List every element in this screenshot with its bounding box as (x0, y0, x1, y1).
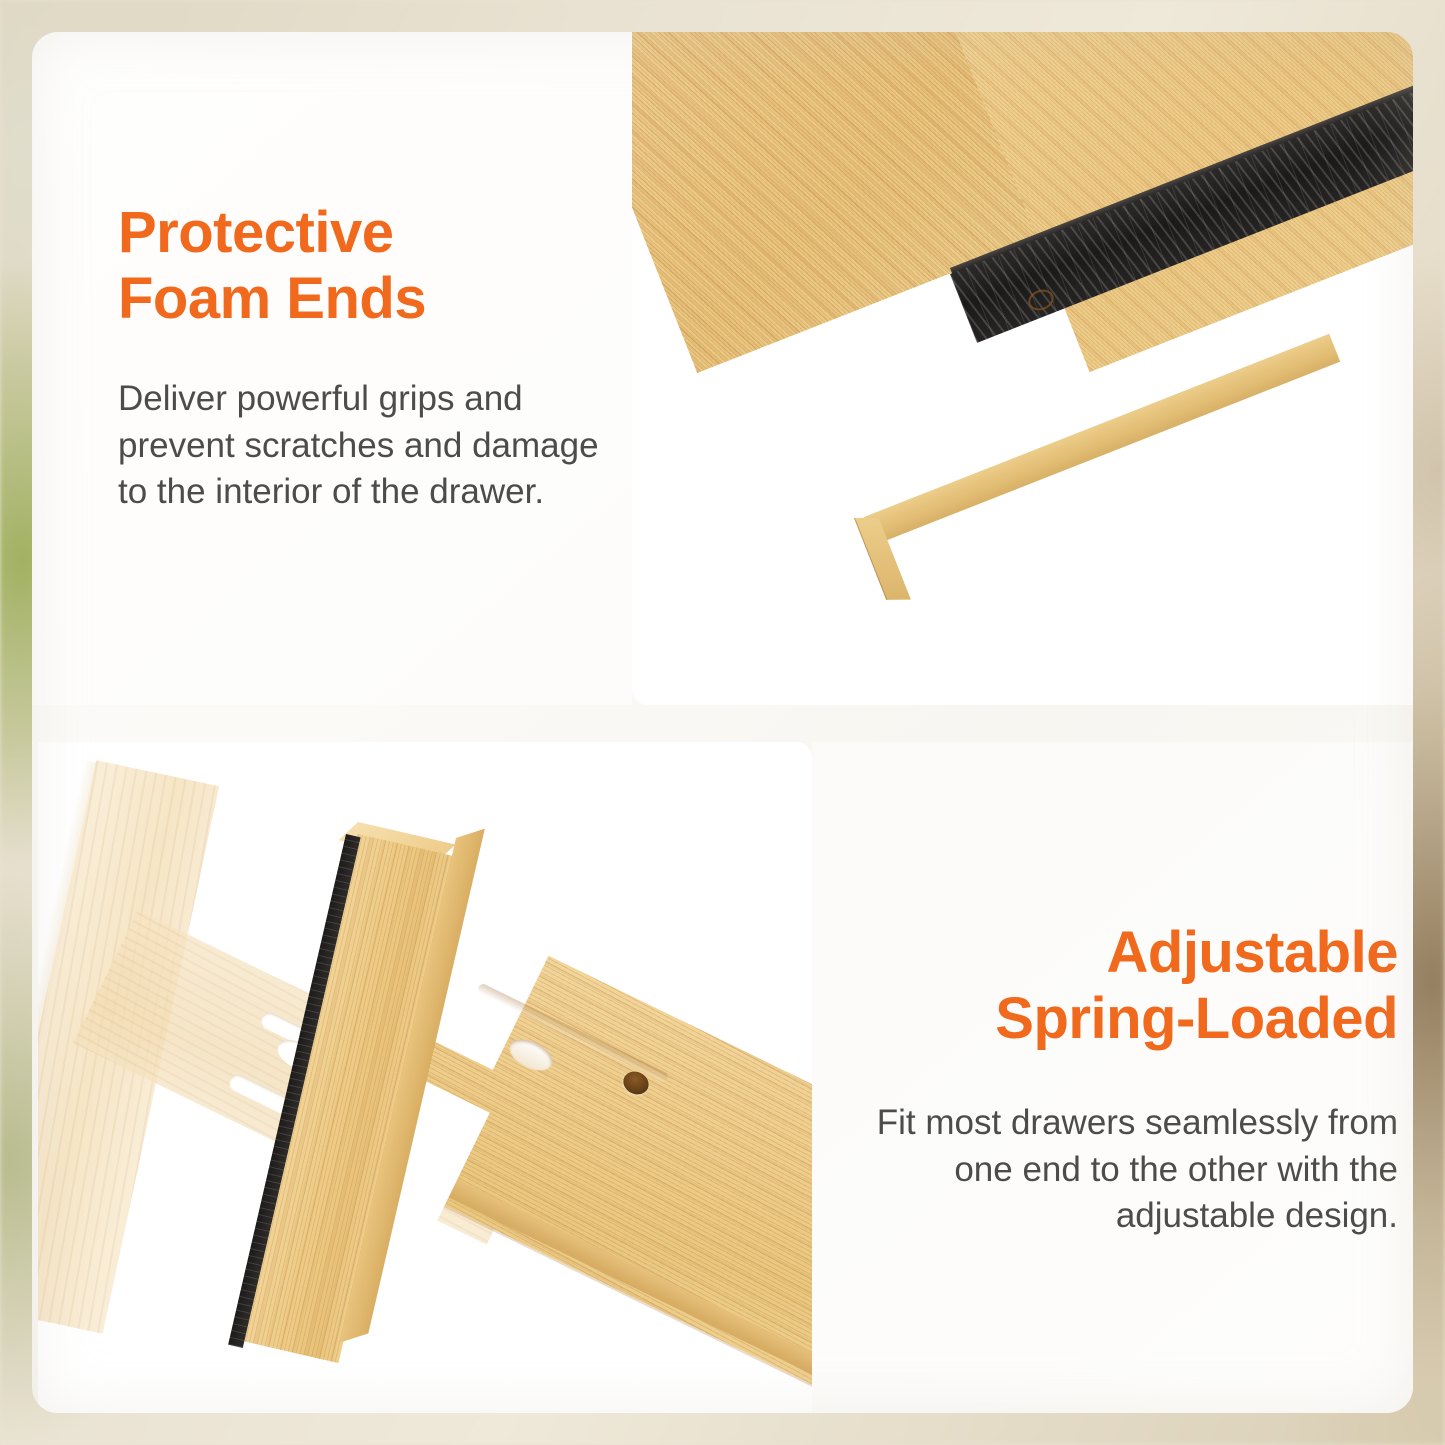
adjustable-divider-illustration (38, 742, 812, 1413)
heading-line-2: Foam Ends (118, 266, 426, 331)
content-card: ProtectiveFoam Ends Deliver powerful gri… (32, 32, 1413, 1413)
feature-heading-adjustable-spring-loaded: AdjustableSpring-Loaded (858, 920, 1398, 1052)
feature-block-adjustable-spring-loaded: AdjustableSpring-Loaded Fit most drawers… (858, 920, 1398, 1240)
product-feature-graphic: ProtectiveFoam Ends Deliver powerful gri… (0, 0, 1445, 1445)
feature-body-adjustable-spring-loaded: Fit most drawers seamlessly from one end… (858, 1100, 1398, 1240)
feature-body-protective-foam-ends: Deliver powerful grips and prevent scrat… (118, 376, 618, 516)
heading-line-1: Adjustable (1107, 920, 1399, 985)
bamboo-board-illustration (632, 32, 1413, 705)
photo-bamboo-board-foam-edge (632, 32, 1413, 705)
heading-line-2: Spring-Loaded (995, 986, 1398, 1051)
heading-line-1: Protective (118, 200, 393, 265)
photo-adjustable-divider-track (38, 742, 812, 1413)
feature-block-protective-foam-ends: ProtectiveFoam Ends Deliver powerful gri… (118, 200, 618, 516)
feature-heading-protective-foam-ends: ProtectiveFoam Ends (118, 200, 618, 332)
